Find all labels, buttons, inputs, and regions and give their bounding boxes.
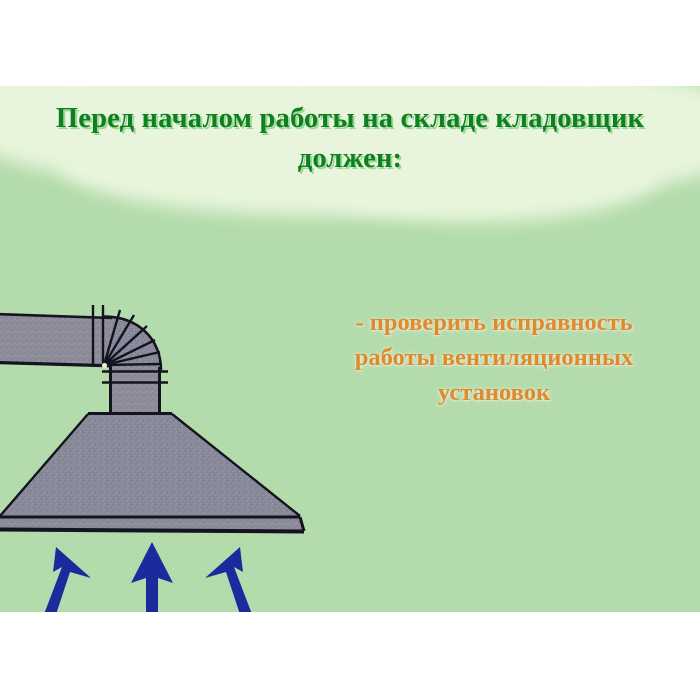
hood-rim xyxy=(0,516,304,532)
elbow-bend xyxy=(93,305,162,372)
slide-body: Перед началом работы на складе кладовщик… xyxy=(0,86,700,612)
screenshot-canvas: Перед началом работы на складе кладовщик… xyxy=(0,0,700,700)
airflow-arrows xyxy=(25,542,271,612)
slide-title: Перед началом работы на складе кладовщик… xyxy=(0,99,700,179)
horizontal-duct-body xyxy=(0,314,112,366)
airflow-arrow-left xyxy=(25,547,91,612)
slide-bullet-text: - проверить исправность работы вентиляци… xyxy=(296,305,692,410)
airflow-arrow-right xyxy=(205,547,271,612)
vertical-duct xyxy=(102,367,168,415)
elbow-pivot-point xyxy=(102,363,107,368)
hood-canopy xyxy=(0,413,300,516)
vertical-duct-body xyxy=(110,367,160,413)
horizontal-duct xyxy=(0,314,118,366)
hood-rim-bottom-edge xyxy=(0,530,304,532)
airflow-arrow-center xyxy=(131,542,173,612)
